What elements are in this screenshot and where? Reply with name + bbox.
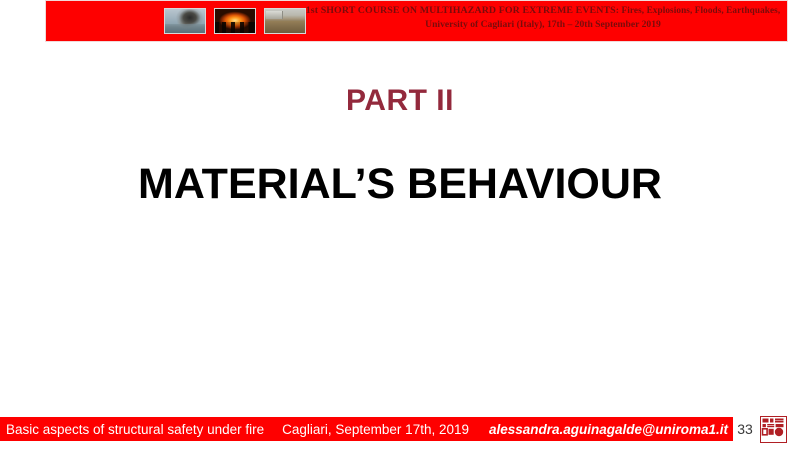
- page-number: 33: [734, 421, 756, 437]
- header-title-lead: 1st SHORT COURSE ON MULTIHAZARD FOR EXTR…: [306, 5, 619, 16]
- footer-place-date: Cagliari, September 17th, 2019: [282, 422, 469, 437]
- explosion-photo: [164, 8, 206, 34]
- footer-course-title: Basic aspects of structural safety under…: [6, 422, 264, 437]
- page-title: MATERIAL’S BEHAVIOUR: [0, 160, 800, 209]
- slide-canvas: 1st SHORT COURSE ON MULTIHAZARD FOR EXTR…: [0, 0, 800, 449]
- fire-photo: [214, 8, 256, 34]
- flood-photo: [264, 8, 306, 34]
- footer-email: alessandra.aguinagalde@uniroma1.it: [489, 422, 728, 437]
- part-label: PART II: [0, 84, 800, 118]
- header-title-hazards: Fires, Explosions, Floods, Earthquakes,: [619, 5, 780, 15]
- header-title-line-2: University of Cagliari (Italy), 17th – 2…: [304, 19, 782, 31]
- header-banner: 1st SHORT COURSE ON MULTIHAZARD FOR EXTR…: [45, 0, 788, 42]
- header-title-block: 1st SHORT COURSE ON MULTIHAZARD FOR EXTR…: [304, 5, 782, 31]
- footer-banner: Basic aspects of structural safety under…: [0, 417, 733, 441]
- header-title-line-1: 1st SHORT COURSE ON MULTIHAZARD FOR EXTR…: [304, 5, 782, 18]
- header-thumbnail-strip: [164, 8, 306, 34]
- sapienza-logo: [760, 416, 787, 443]
